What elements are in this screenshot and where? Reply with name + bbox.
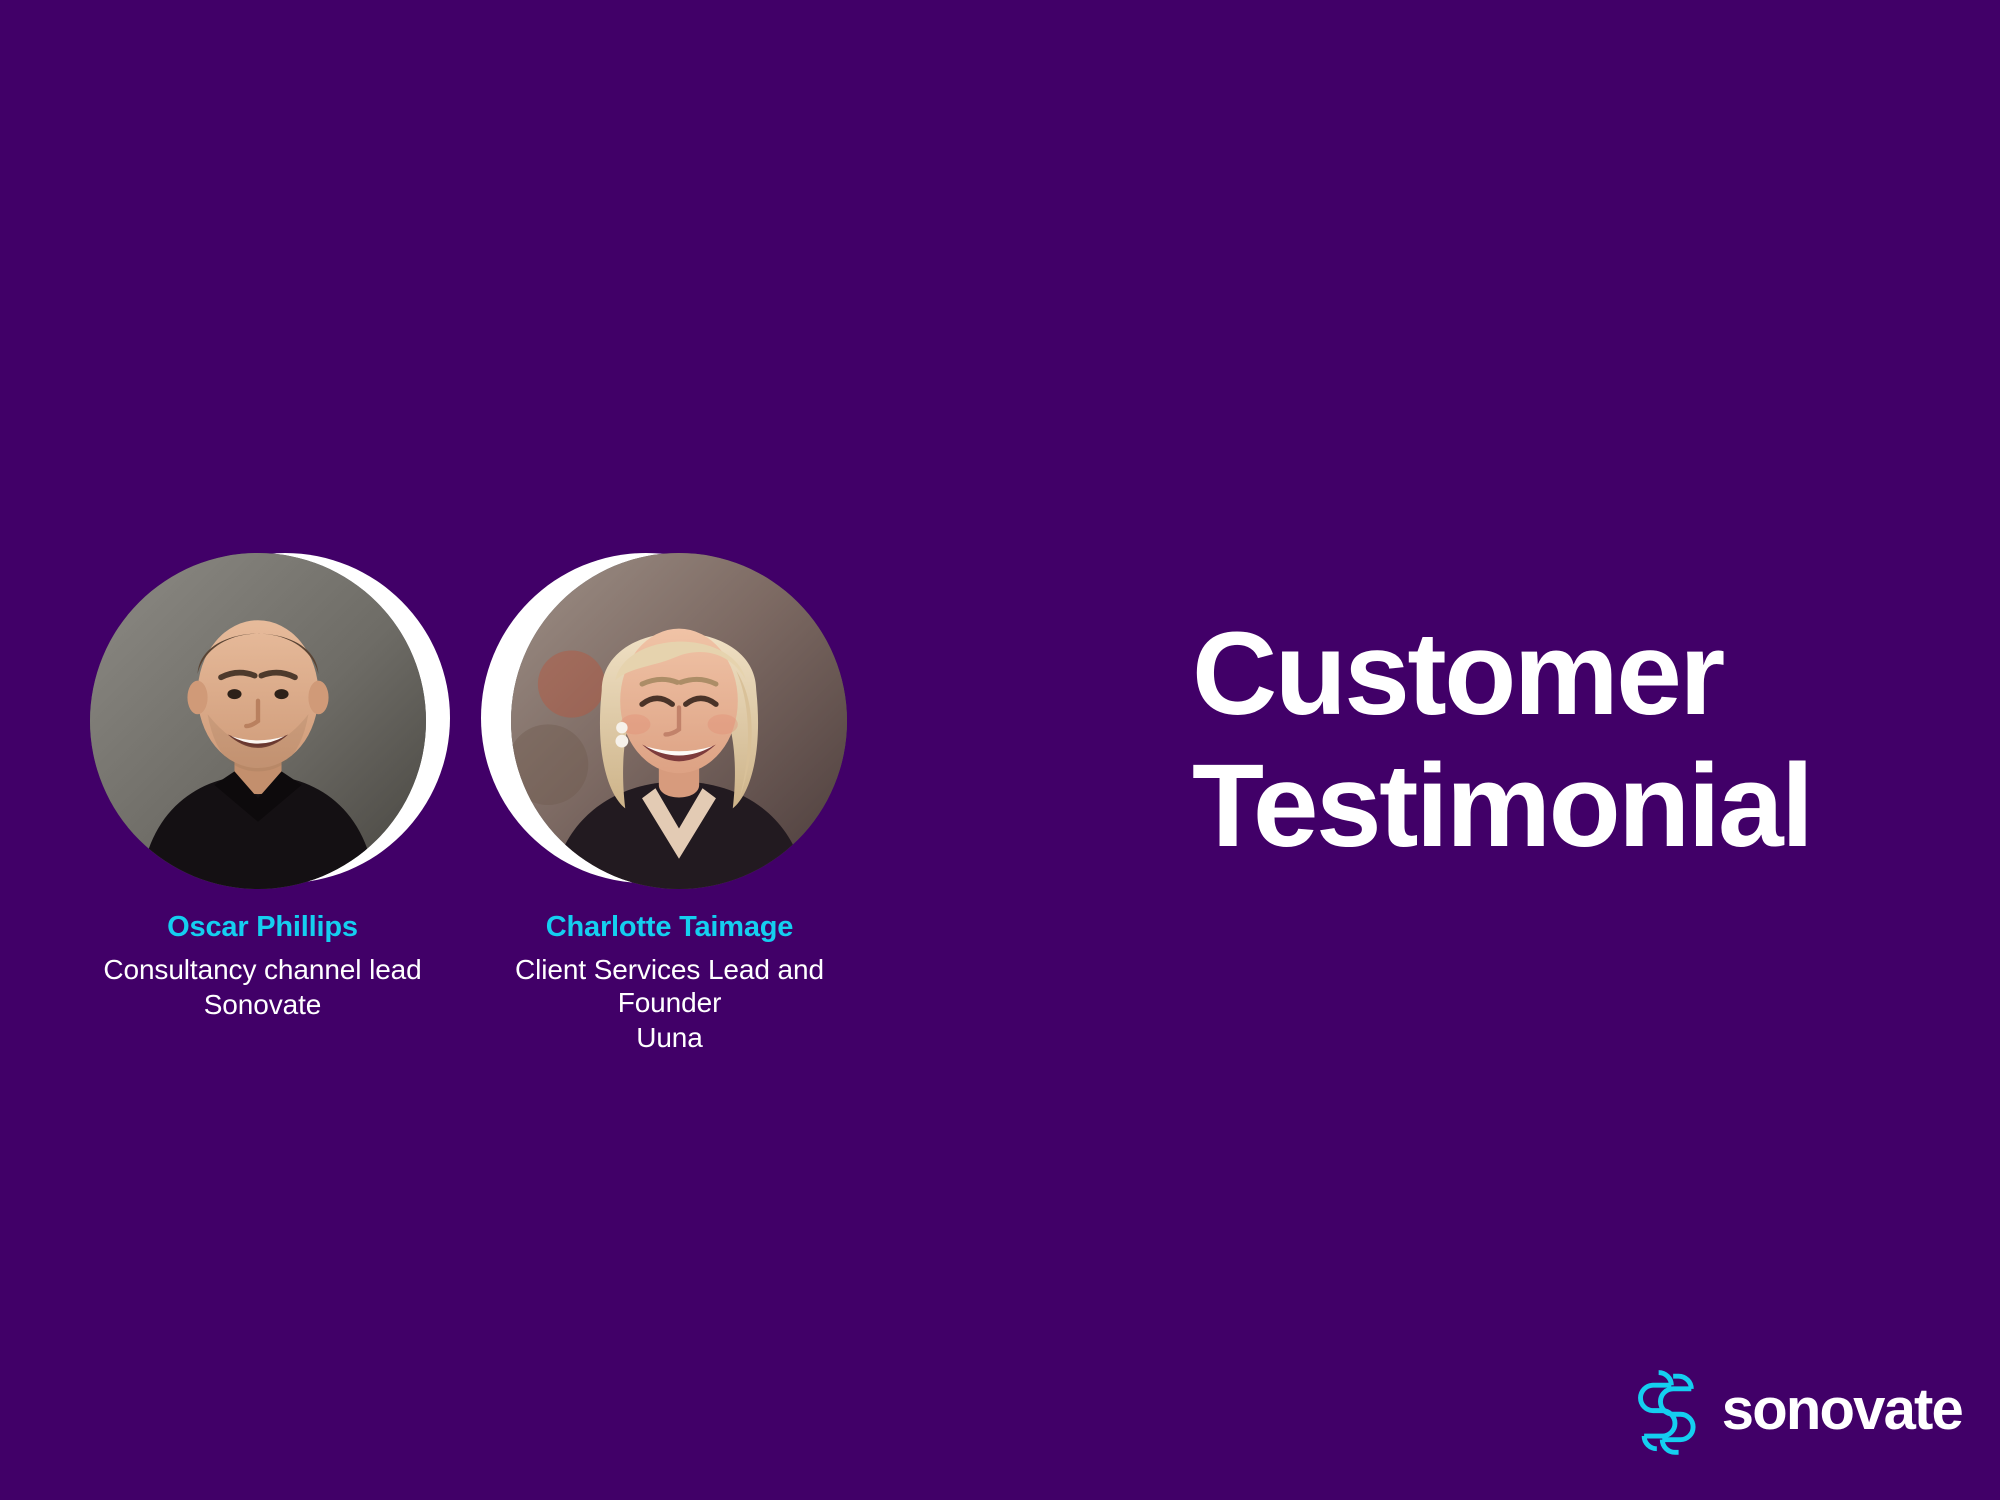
speaker-company: Sonovate (103, 988, 421, 1021)
sonovate-logo: sonovate (1626, 1368, 1962, 1456)
page-title: Customer Testimonial (1192, 608, 1811, 872)
avatar-photo-oscar-phillips (90, 553, 426, 889)
speaker-company: Uuna (497, 1021, 842, 1054)
speaker-name: Charlotte Taimage (497, 910, 842, 944)
speaker-role: Consultancy channel lead (103, 953, 421, 986)
sonovate-wordmark: sonovate (1722, 1381, 1962, 1443)
speaker-card: Charlotte Taimage Client Services Lead a… (497, 545, 842, 1054)
speaker-name: Oscar Phillips (103, 910, 421, 944)
avatar-photo-charlotte-taimage (511, 553, 847, 889)
speaker-card: Oscar Phillips Consultancy channel lead … (90, 545, 435, 1021)
speaker-caption: Oscar Phillips Consultancy channel lead … (103, 910, 421, 1021)
slide-canvas: Oscar Phillips Consultancy channel lead … (0, 0, 2000, 1500)
speaker-caption: Charlotte Taimage Client Services Lead a… (497, 910, 842, 1054)
speaker-role: Client Services Lead and Founder (497, 953, 842, 1019)
speaker-list: Oscar Phillips Consultancy channel lead … (90, 545, 842, 1054)
avatar (90, 545, 435, 890)
avatar (497, 545, 842, 890)
sonovate-double-s-icon (1626, 1368, 1704, 1456)
